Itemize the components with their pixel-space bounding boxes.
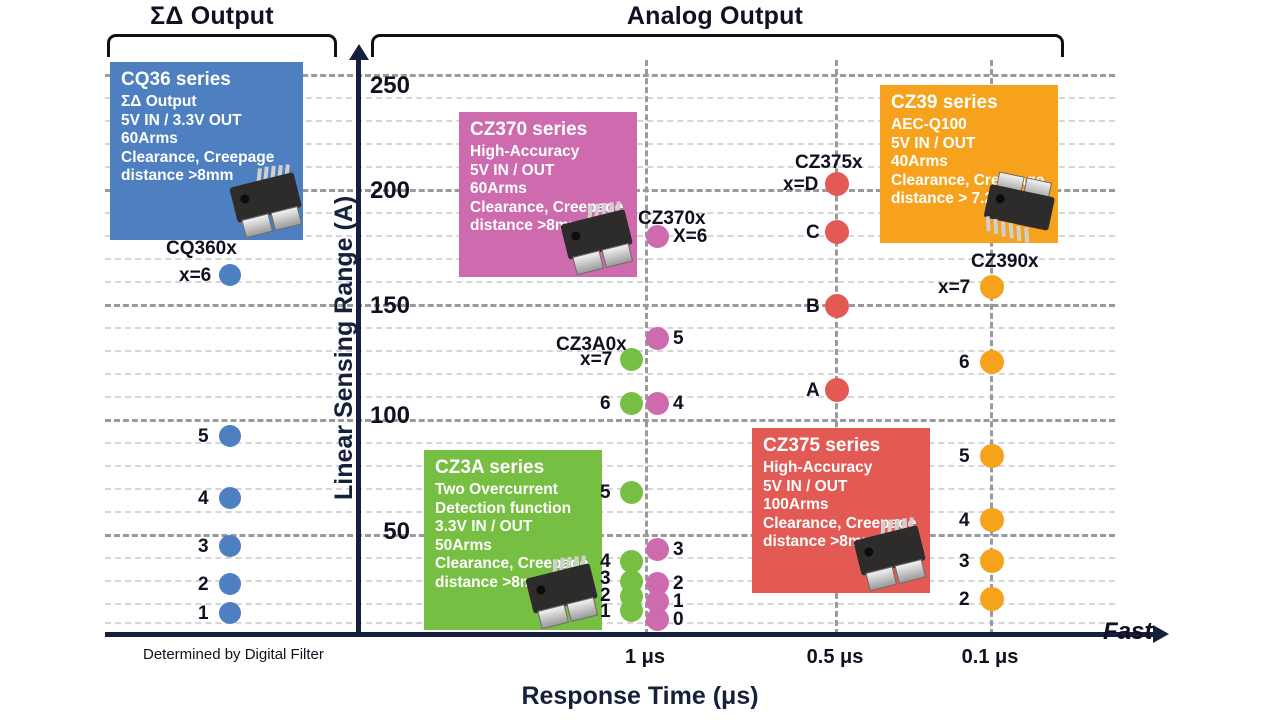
point-cz370x-5[interactable] (646, 327, 669, 350)
section-title-sigma-delta: ΣΔ Output (106, 2, 318, 31)
x-axis-arrow (1153, 625, 1169, 643)
card-cq36-title: CQ36 series (121, 69, 303, 91)
point-label-cz375x-c: C (806, 222, 820, 244)
x-axis-line (105, 632, 1155, 637)
card-cz39-line-2: 40Arms (891, 153, 1058, 171)
point-label-cz370x-4: 4 (673, 393, 684, 415)
point-label-cq360x-x6: x=6 (179, 265, 211, 287)
point-cq360x-5[interactable] (219, 425, 241, 447)
point-label-cz370x-3: 3 (673, 539, 684, 561)
point-cq360x-2[interactable] (219, 573, 241, 595)
point-cz390x-x7[interactable] (980, 275, 1004, 299)
point-cz370x-4[interactable] (646, 392, 669, 415)
y-tick-250: 250 (300, 72, 410, 100)
point-label-cz3a0x-x7: x=7 (580, 349, 612, 371)
point-cz375x-b[interactable] (825, 294, 849, 318)
point-cz390x-3[interactable] (980, 549, 1004, 573)
point-label-cz390x-x7: x=7 (938, 277, 970, 299)
card-cz370[interactable]: CZ370 series High-Accuracy 5V IN / OUT 6… (459, 112, 637, 277)
card-cq36[interactable]: CQ36 series ΣΔ Output 5V IN / 3.3V OUT 6… (110, 62, 303, 240)
card-cq36-line-1: 5V IN / 3.3V OUT (121, 112, 303, 130)
point-label-cq360x-5: 5 (198, 426, 209, 448)
card-cz3a-title: CZ3A series (435, 457, 602, 479)
card-cz3a-line-0: Two Overcurrent (435, 481, 602, 499)
point-label-cz370x-5: 5 (673, 328, 684, 350)
point-label-cz370x-x6: X=6 (673, 226, 707, 248)
point-label-cz390x-4: 4 (959, 510, 970, 532)
gridline-y-100 (105, 419, 1115, 422)
point-cz375x-c[interactable] (825, 220, 849, 244)
card-cz375-line-1: 5V IN / OUT (763, 478, 930, 496)
point-cz390x-5[interactable] (980, 444, 1004, 468)
point-label-cz390x-5: 5 (959, 446, 970, 468)
point-label-cq360x-1: 1 (198, 603, 209, 625)
point-cq360x-4[interactable] (219, 487, 241, 509)
x-tick-1us: 1 μs (585, 646, 705, 669)
section-title-analog: Analog Output (370, 2, 1060, 31)
y-axis-title: Linear Sensing Range (A) (330, 196, 359, 500)
card-cq36-line-2: 60Arms (121, 130, 303, 148)
point-label-cz375x-b: B (806, 296, 820, 318)
point-cz3a0x-x7[interactable] (620, 348, 643, 371)
x-axis-fast-label: Fast (1103, 618, 1152, 646)
point-label-cz390x-3: 3 (959, 551, 970, 573)
y-tick-200: 200 (300, 177, 410, 205)
y-tick-150: 150 (300, 292, 410, 320)
card-cz3a-line-1: Detection function (435, 500, 602, 518)
point-cz390x-2[interactable] (980, 587, 1004, 611)
card-cz39-line-1: 5V IN / OUT (891, 135, 1058, 153)
point-cz390x-6[interactable] (980, 350, 1004, 374)
chart-canvas: ΣΔ Output Analog Output Fast Linear Sens… (0, 0, 1280, 720)
series-label-cq360x: CQ360x (166, 238, 237, 260)
point-cz3a0x-6[interactable] (620, 392, 643, 415)
point-cq360x-x6[interactable] (219, 264, 241, 286)
point-label-cq360x-2: 2 (198, 574, 209, 596)
bracket-sigma-delta (107, 34, 337, 57)
gridline-y-90 (105, 442, 1115, 444)
card-cz3a-line-3: 50Arms (435, 537, 602, 555)
card-cq36-line-0: ΣΔ Output (121, 93, 303, 111)
bracket-analog (371, 34, 1064, 57)
card-cz375-line-0: High-Accuracy (763, 459, 930, 477)
card-cz39-line-0: AEC-Q100 (891, 116, 1058, 134)
card-cz370-line-0: High-Accuracy (470, 143, 637, 161)
point-label-cq360x-3: 3 (198, 536, 209, 558)
gridline-y-150 (105, 304, 1115, 307)
point-cz3a0x-1[interactable] (620, 599, 643, 622)
gridline-y-50 (105, 534, 1115, 537)
y-tick-50: 50 (300, 518, 410, 546)
series-label-cz375x: CZ375x (795, 152, 863, 174)
card-cz375[interactable]: CZ375 series High-Accuracy 5V IN / OUT 1… (752, 428, 930, 593)
point-label-cz3a0x-5: 5 (600, 482, 611, 504)
point-label-cq360x-4: 4 (198, 488, 209, 510)
card-cz370-line-1: 5V IN / OUT (470, 162, 637, 180)
point-label-cz3a0x-1: 1 (600, 601, 611, 623)
point-label-cz3a0x-6: 6 (600, 393, 611, 415)
card-cz375-title: CZ375 series (763, 435, 930, 457)
x-tick-0-5us: 0.5 μs (775, 646, 895, 669)
y-tick-100: 100 (300, 402, 410, 430)
point-cz390x-4[interactable] (980, 508, 1004, 532)
card-cz375-line-2: 100Arms (763, 496, 930, 514)
point-cq360x-3[interactable] (219, 535, 241, 557)
point-label-cz370x-0: 0 (673, 609, 684, 631)
point-label-cz390x-2: 2 (959, 589, 970, 611)
card-cz39[interactable]: CZ39 series AEC-Q100 5V IN / OUT 40Arms … (880, 85, 1058, 243)
point-cz375x-xd[interactable] (825, 172, 849, 196)
card-cz370-line-2: 60Arms (470, 180, 637, 198)
point-label-cz375x-xd: x=D (783, 174, 818, 196)
x-axis-title: Response Time (μs) (380, 682, 900, 711)
card-cz3a-line-2: 3.3V IN / OUT (435, 518, 602, 536)
card-cz3a[interactable]: CZ3A series Two Overcurrent Detection fu… (424, 450, 602, 630)
card-cz39-title: CZ39 series (891, 92, 1058, 114)
gridline-y-140 (105, 327, 1115, 329)
point-cz3a0x-5[interactable] (620, 481, 643, 504)
card-cz370-title: CZ370 series (470, 119, 637, 141)
ic-package-cz39-icon (975, 165, 1058, 243)
series-label-cz390x: CZ390x (971, 251, 1039, 273)
point-cz375x-a[interactable] (825, 378, 849, 402)
point-label-cz375x-a: A (806, 380, 820, 402)
x-axis-footnote: Determined by Digital Filter (143, 646, 324, 663)
point-label-cz390x-6: 6 (959, 352, 970, 374)
point-cq360x-1[interactable] (219, 602, 241, 624)
x-tick-0-1us: 0.1 μs (930, 646, 1050, 669)
point-cz370x-0[interactable] (646, 608, 669, 631)
point-cz370x-3[interactable] (646, 538, 669, 561)
point-cz370x-x6[interactable] (646, 225, 669, 248)
